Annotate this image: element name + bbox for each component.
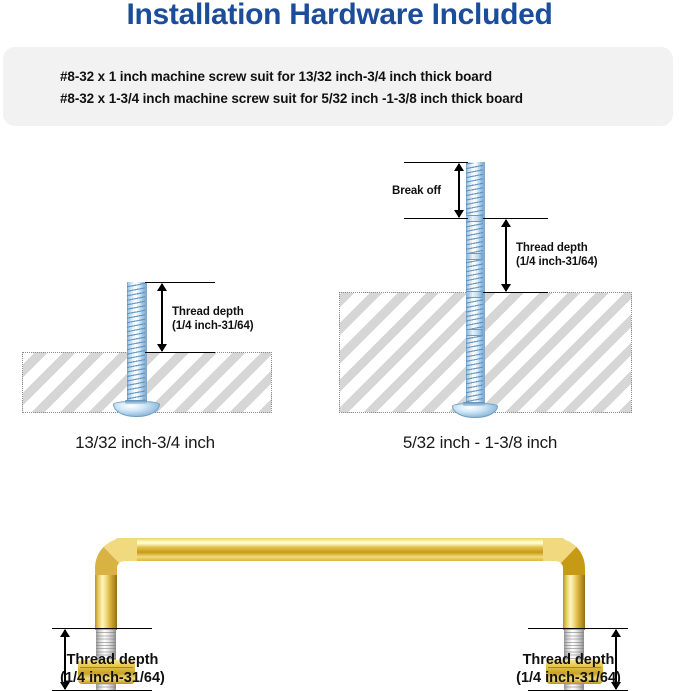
screw-shaft <box>466 162 485 410</box>
break-off-groove <box>466 329 483 336</box>
dim-tick-bottom <box>145 352 215 353</box>
caption-long-screw: 5/32 inch - 1-3/8 inch <box>330 433 630 453</box>
handle-leg-right <box>563 575 585 630</box>
dim-arrow-up-icon <box>157 283 167 291</box>
dim-tick-top <box>145 282 215 283</box>
dim-label-short: Thread depth (1/4 inch-31/64) <box>172 305 254 333</box>
spec-info-panel <box>3 47 673 126</box>
page-title: Installation Hardware Included <box>0 0 679 32</box>
dim-arrow-up-icon <box>454 163 464 171</box>
dim-tick-bottom <box>404 218 468 219</box>
break-off-groove <box>466 253 483 260</box>
handle-bar <box>115 538 565 561</box>
dim-tick-top <box>483 218 548 219</box>
dim-arrow-down-icon <box>501 284 511 292</box>
screw-head-slot <box>463 402 485 406</box>
dim-arrow-down-icon <box>454 210 464 218</box>
handle-leg-left <box>95 575 117 630</box>
caption-short-screw: 13/32 inch-3/4 inch <box>0 433 290 453</box>
dim-label-break-off: Break off <box>392 184 441 198</box>
spec-line-2: #8-32 x 1-3/4 inch machine screw suit fo… <box>60 91 523 106</box>
screw-shaft <box>127 282 147 407</box>
product-infographic: Installation Hardware Included #8-32 x 1… <box>0 0 679 690</box>
break-off-groove <box>466 215 483 222</box>
dim-arrow-up-icon <box>501 219 511 227</box>
spec-line-1: #8-32 x 1 inch machine screw suit for 13… <box>60 69 492 84</box>
dim-label-long: Thread depth (1/4 inch-31/64) <box>516 241 598 269</box>
break-off-groove <box>466 291 483 298</box>
dim-measure-line <box>161 284 163 351</box>
handle-caption-right: Thread depth (1/4 inch-31/64) <box>466 651 671 687</box>
handle-caption-left: Thread depth (1/4 inch-31/64) <box>10 651 215 687</box>
dim-tick-bottom <box>483 292 548 293</box>
dim-arrow-up-icon <box>60 629 70 637</box>
screw-head-slot <box>125 400 147 404</box>
dim-measure-line <box>505 220 507 291</box>
dim-arrow-up-icon <box>611 629 621 637</box>
dim-arrow-down-icon <box>157 344 167 352</box>
board-thick <box>339 292 632 413</box>
